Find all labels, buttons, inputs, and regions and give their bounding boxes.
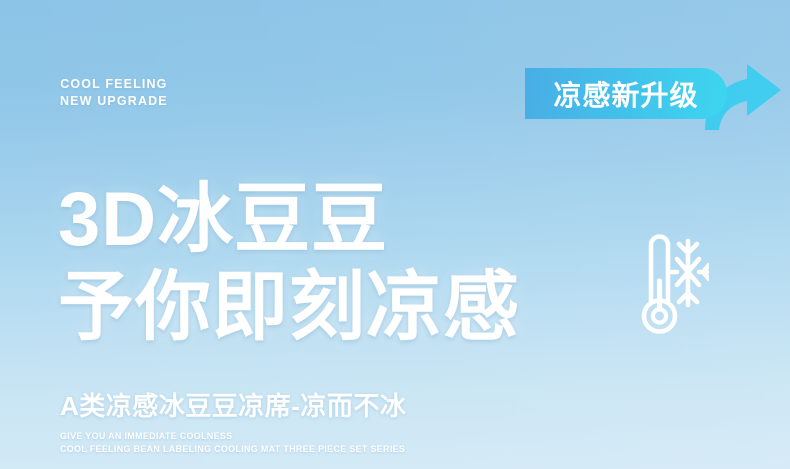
- headline-line-2: 予你即刻凉感: [58, 264, 520, 352]
- subtitle-text: A类凉感冰豆豆凉席-凉而不冰: [60, 386, 406, 423]
- badge-label: 凉感新升级: [525, 68, 727, 119]
- headline-line-1: 3D冰豆豆: [58, 176, 520, 264]
- footer-line-1: GIVE YOU AN IMMEDIATE COOLNESS: [60, 431, 405, 444]
- eyebrow-line-1: COOL FEELING: [60, 77, 167, 91]
- footer-text: GIVE YOU AN IMMEDIATE COOLNESS COOL FEEL…: [60, 431, 405, 456]
- eyebrow-text: COOL FEELING NEW UPGRADE: [60, 76, 168, 110]
- promo-banner: COOL FEELING NEW UPGRADE 凉感新升级 3D冰豆豆 予你即…: [0, 0, 790, 469]
- eyebrow-line-2: NEW UPGRADE: [60, 94, 168, 108]
- footer-line-2: COOL FEELING BEAN LABELING COOLING MAT T…: [60, 444, 405, 457]
- page-title: 3D冰豆豆 予你即刻凉感: [58, 176, 520, 352]
- thermometer-snowflake-icon: [633, 231, 709, 335]
- upgrade-badge: 凉感新升级: [509, 46, 790, 136]
